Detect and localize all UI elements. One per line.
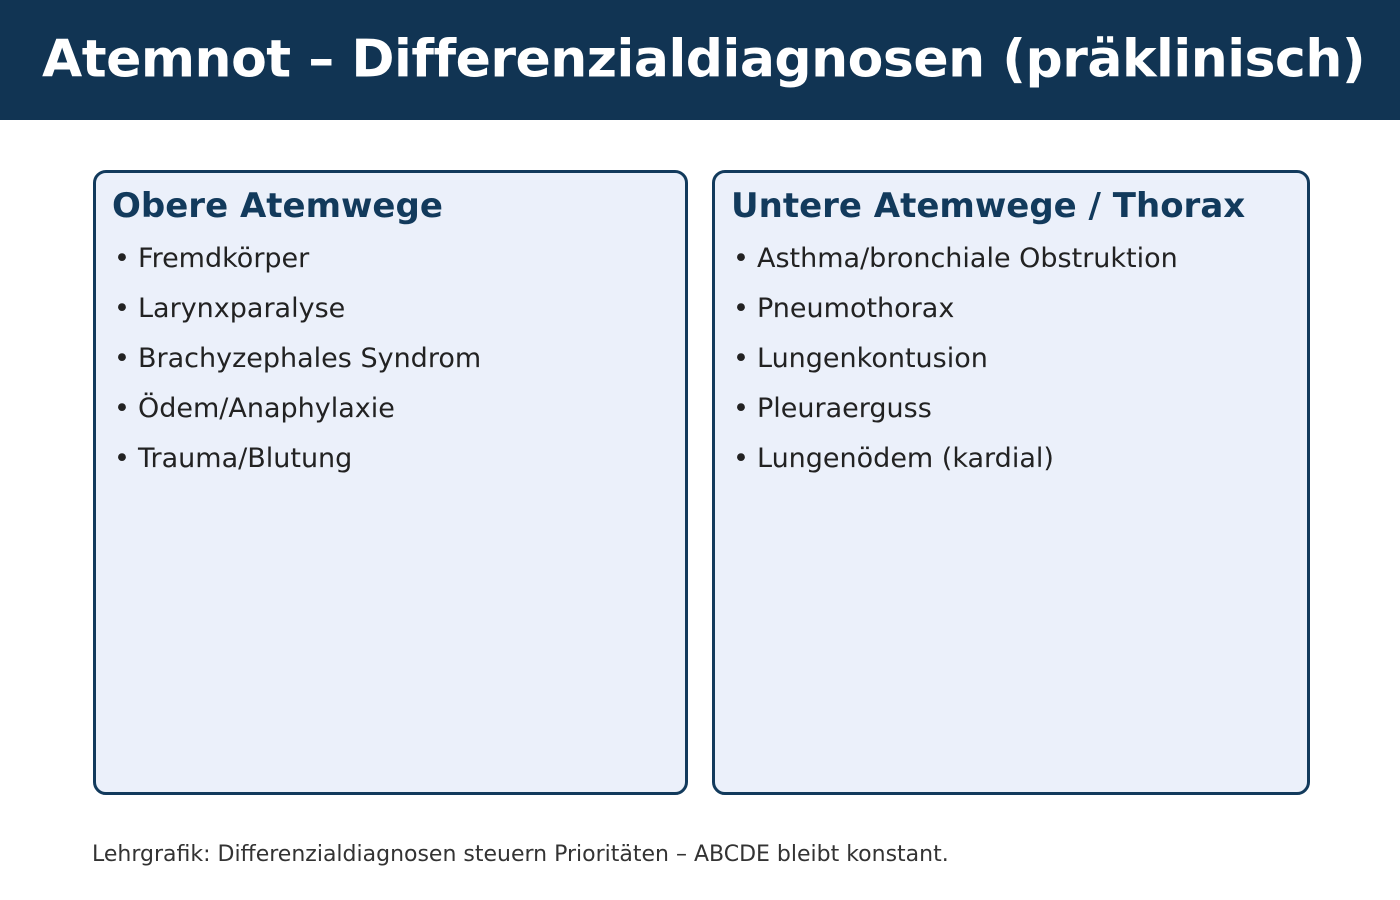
list-item: Pleuraerguss — [731, 384, 1291, 434]
slide-canvas: Atemnot – Differenzialdiagnosen (präklin… — [0, 0, 1400, 900]
footer-caption: Lehrgrafik: Differenzialdiagnosen steuer… — [92, 840, 949, 870]
card-title: Obere Atemwege — [112, 185, 669, 228]
page-title: Atemnot – Differenzialdiagnosen (präklin… — [42, 33, 1365, 88]
list-item: Brachyzephales Syndrom — [112, 334, 669, 384]
card-title: Untere Atemwege / Thorax — [731, 185, 1291, 228]
list-item: Larynxparalyse — [112, 284, 669, 334]
list-item: Pneumothorax — [731, 284, 1291, 334]
card-bullet-list: Asthma/bronchiale Obstruktion Pneumothor… — [731, 234, 1291, 484]
cards-container: Obere Atemwege Fremdkörper Larynxparalys… — [93, 170, 1310, 795]
list-item: Fremdkörper — [112, 234, 669, 284]
card-untere-atemwege-thorax: Untere Atemwege / Thorax Asthma/bronchia… — [712, 170, 1310, 795]
card-bullet-list: Fremdkörper Larynxparalyse Brachyzephale… — [112, 234, 669, 484]
list-item: Lungenkontusion — [731, 334, 1291, 384]
list-item: Lungenödem (kardial) — [731, 434, 1291, 484]
list-item: Ödem/Anaphylaxie — [112, 384, 669, 434]
card-obere-atemwege: Obere Atemwege Fremdkörper Larynxparalys… — [93, 170, 688, 795]
list-item: Asthma/bronchiale Obstruktion — [731, 234, 1291, 284]
list-item: Trauma/Blutung — [112, 434, 669, 484]
header-band: Atemnot – Differenzialdiagnosen (präklin… — [0, 0, 1400, 120]
